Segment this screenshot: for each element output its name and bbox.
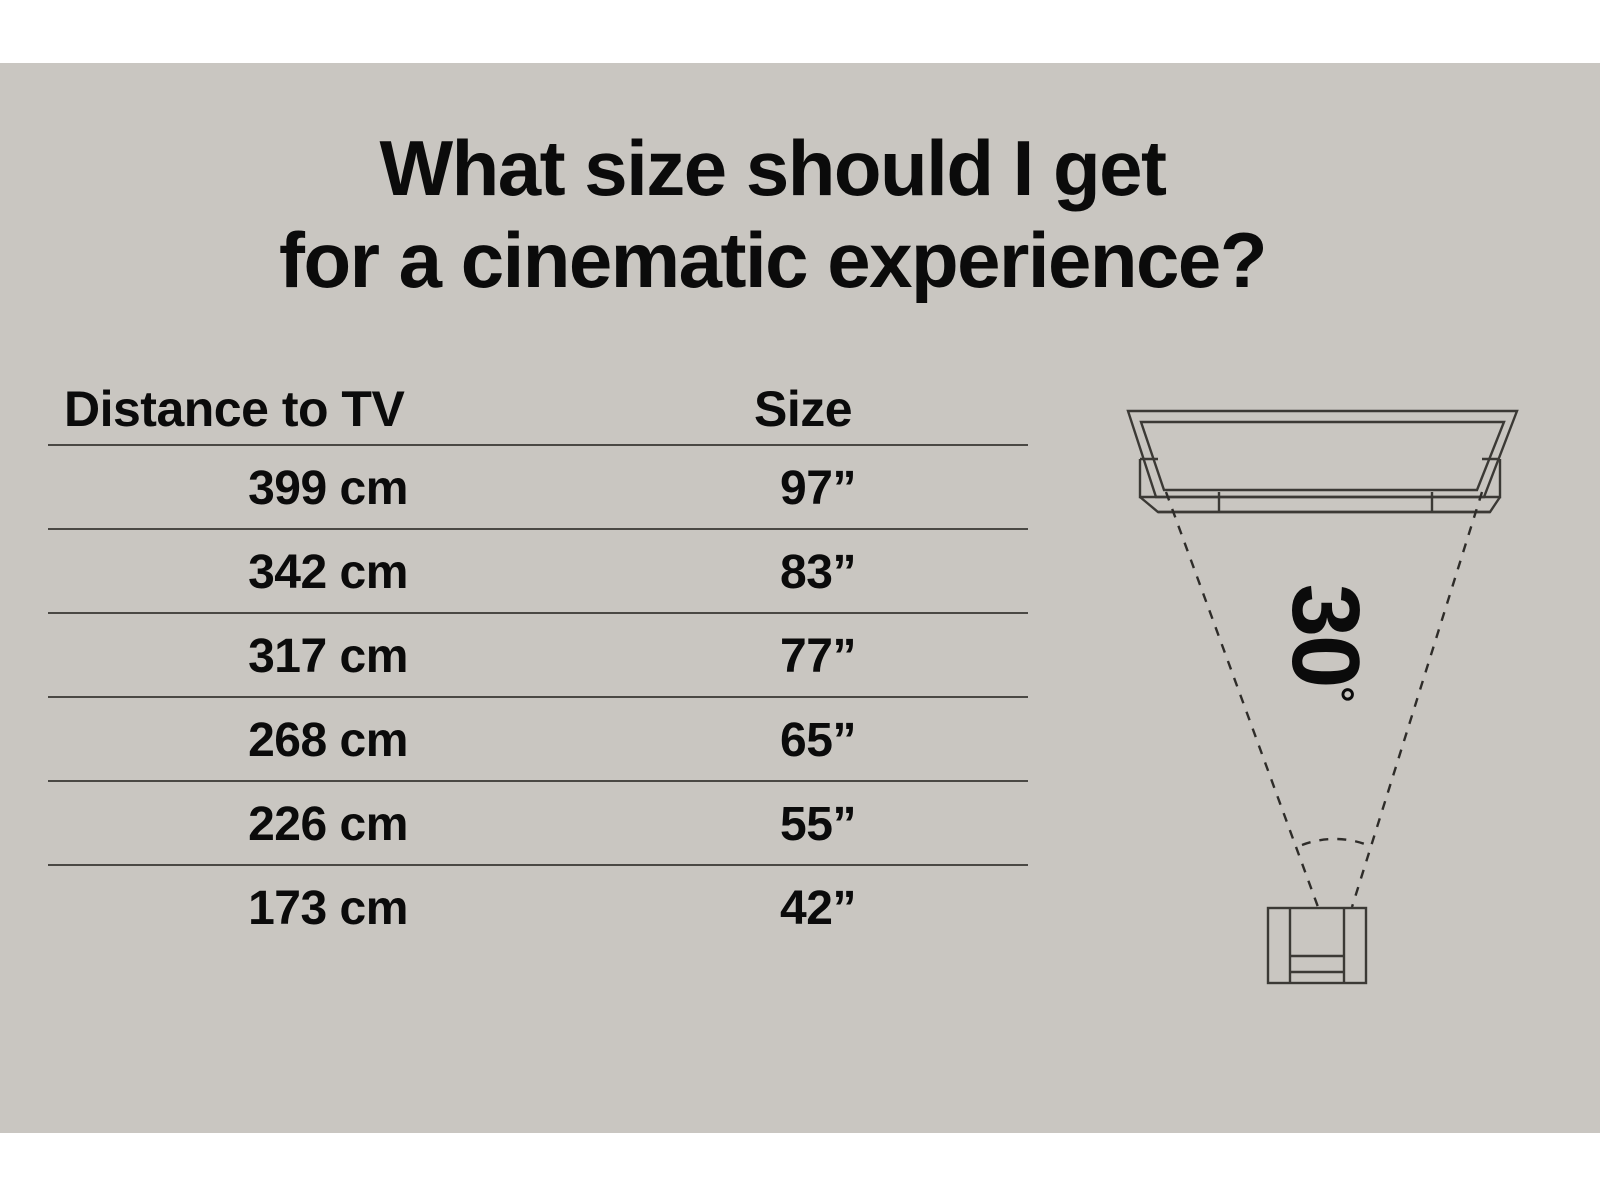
cell-distance: 173 cm (48, 881, 608, 936)
cell-size: 65” (608, 713, 1028, 768)
table-row: 268 cm 65” (48, 698, 1028, 782)
cell-distance: 268 cm (48, 713, 608, 768)
table-header-row: Distance to TV Size (48, 372, 1028, 446)
cell-distance: 226 cm (48, 797, 608, 852)
tv-screen-outer (1128, 411, 1517, 497)
infographic-root: What size should I get for a cinematic e… (0, 0, 1600, 1200)
column-header-distance: Distance to TV (48, 380, 624, 438)
table-row: 317 cm 77” (48, 614, 1028, 698)
sight-line-right (1352, 492, 1482, 907)
page-title: What size should I get for a cinematic e… (0, 122, 1545, 306)
tv-base-top (1140, 459, 1500, 497)
table-row: 342 cm 83” (48, 530, 1028, 614)
cell-size: 83” (608, 545, 1028, 600)
cell-size: 97” (608, 461, 1028, 516)
cell-distance: 342 cm (48, 545, 608, 600)
cell-size: 55” (608, 797, 1028, 852)
table-row: 226 cm 55” (48, 782, 1028, 866)
tv-screen-inner (1141, 422, 1504, 490)
tv-top-view (1128, 411, 1517, 512)
angle-arc (1302, 839, 1370, 846)
size-guide-table: Distance to TV Size 399 cm 97” 342 cm 83… (48, 372, 1028, 950)
sofa-top-view (1268, 908, 1366, 983)
table-row: 399 cm 97” (48, 446, 1028, 530)
cell-distance: 317 cm (48, 629, 608, 684)
table-row: 173 cm 42” (48, 866, 1028, 950)
tv-base-front (1140, 497, 1500, 512)
cell-distance: 399 cm (48, 461, 608, 516)
sight-lines (1166, 492, 1482, 907)
sight-line-left (1166, 492, 1318, 907)
viewing-angle-diagram (1080, 380, 1560, 1020)
cell-size: 77” (608, 629, 1028, 684)
column-header-size: Size (624, 380, 1028, 438)
cell-size: 42” (608, 881, 1028, 936)
